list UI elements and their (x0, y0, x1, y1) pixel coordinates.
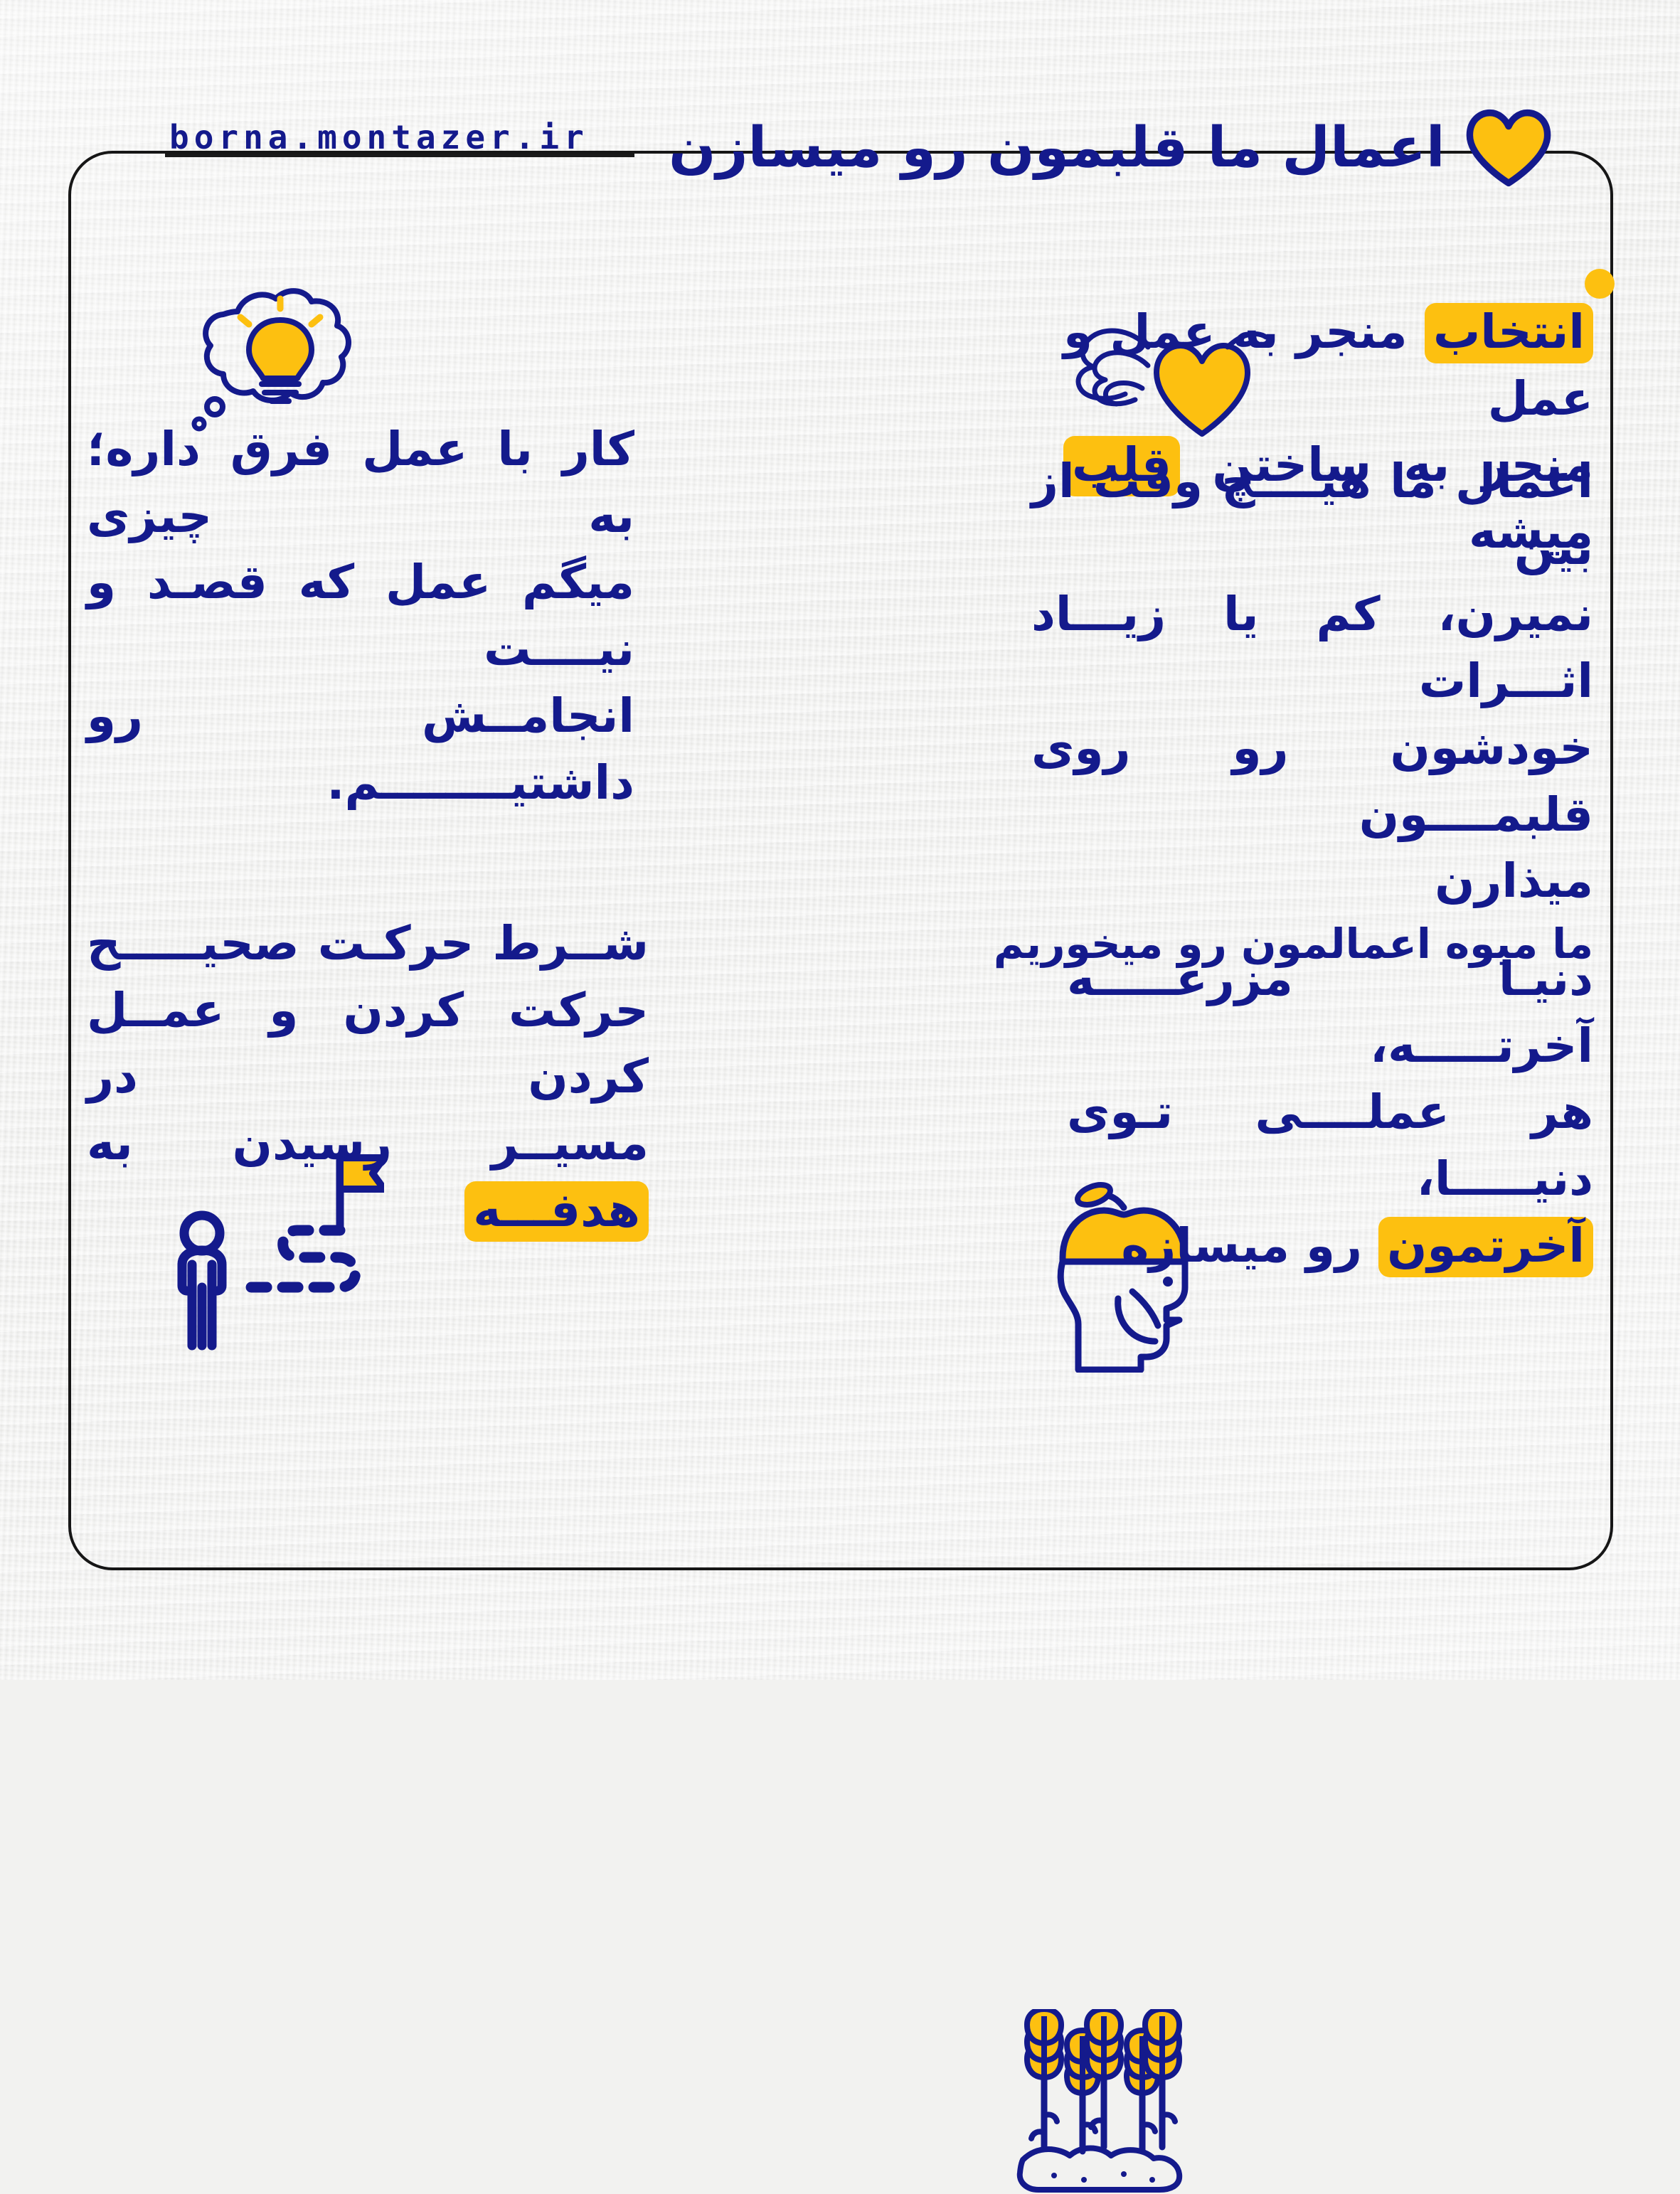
heart-icon (1464, 108, 1553, 188)
block-world-is-farm: دنیـا مزرعـــــه آخرتـــــه، هر عملــــی… (882, 946, 1593, 1252)
paragraph-deeds-never-vanish: اعمال ما هیــــچ وقت از بین نمیرن، کم یا… (1031, 448, 1593, 973)
text-line: آخرتمون رو میسازه (1067, 1213, 1593, 1279)
block-deeds-never-vanish: اعمال ما هیــــچ وقت از بین نمیرن، کم یا… (882, 448, 1593, 946)
text-line: نمیرن، کم یا زیـــاد اثـــرات (1031, 581, 1593, 714)
page-title: اعمال ما قلبمون رو میسازن (669, 120, 1445, 176)
text-segment: مسیــر رسیدن به (87, 1116, 649, 1171)
left-column: کار با عمل فرق داره؛ به چیزی میگم عمل که… (87, 235, 798, 1131)
text-segment: رو میسازه (1121, 1218, 1378, 1273)
paragraph-world-is-farm: دنیـا مزرعـــــه آخرتـــــه، هر عملــــی… (1067, 946, 1593, 1279)
text-line: انتخاب منجر به عمل و عمل (1063, 299, 1593, 432)
block-work-vs-action: کار با عمل فرق داره؛ به چیزی میگم عمل که… (87, 235, 798, 690)
paragraph-condition-right-move: شــرط حرکـت صحیـــــح حرکت کردن و عمــل … (87, 910, 649, 1244)
right-column: انتخاب منجر به عمل و عمل منجر به ساختن ق… (882, 235, 1593, 1252)
text-line: هر عملــــی تـوی دنیـــــا، (1067, 1079, 1593, 1212)
infographic-stage: borna.montazer.ir اعمال ما قلبمون رو میس… (0, 0, 1680, 1680)
text-line: میگم عمل که قصـد و نیــــت (87, 549, 634, 682)
block-choice-action-heart: انتخاب منجر به عمل و عمل منجر به ساختن ق… (882, 235, 1593, 448)
text-line: میذارن (1031, 848, 1593, 915)
text-line: اعمال ما هیــــچ وقت از بین (1031, 448, 1593, 581)
highlight-hadafe: هدفـــه (464, 1181, 649, 1242)
highlight-entekhab: انتخاب (1425, 303, 1593, 363)
text-line: کار با عمل فرق داره؛ به چیزی (87, 416, 634, 549)
text-line: دنیـا مزرعـــــه آخرتـــــه، (1067, 946, 1593, 1079)
header: اعمال ما قلبمون رو میسازن (669, 105, 1600, 191)
wheat-icon (1010, 2009, 1195, 2194)
text-line: مسیــر رسیدن به هدفـــه (87, 1110, 649, 1243)
highlight-akheratemoon: آخرتمون (1378, 1217, 1593, 1277)
text-line: شــرط حرکـت صحیـــــح (87, 910, 649, 977)
text-line: خودشون رو روی قلبمــــون (1031, 715, 1593, 848)
block-condition-right-move: شــرط حرکـت صحیـــــح حرکت کردن و عمــل … (87, 690, 798, 1131)
text-line: حرکت کردن و عمــل کردن در (87, 977, 649, 1110)
